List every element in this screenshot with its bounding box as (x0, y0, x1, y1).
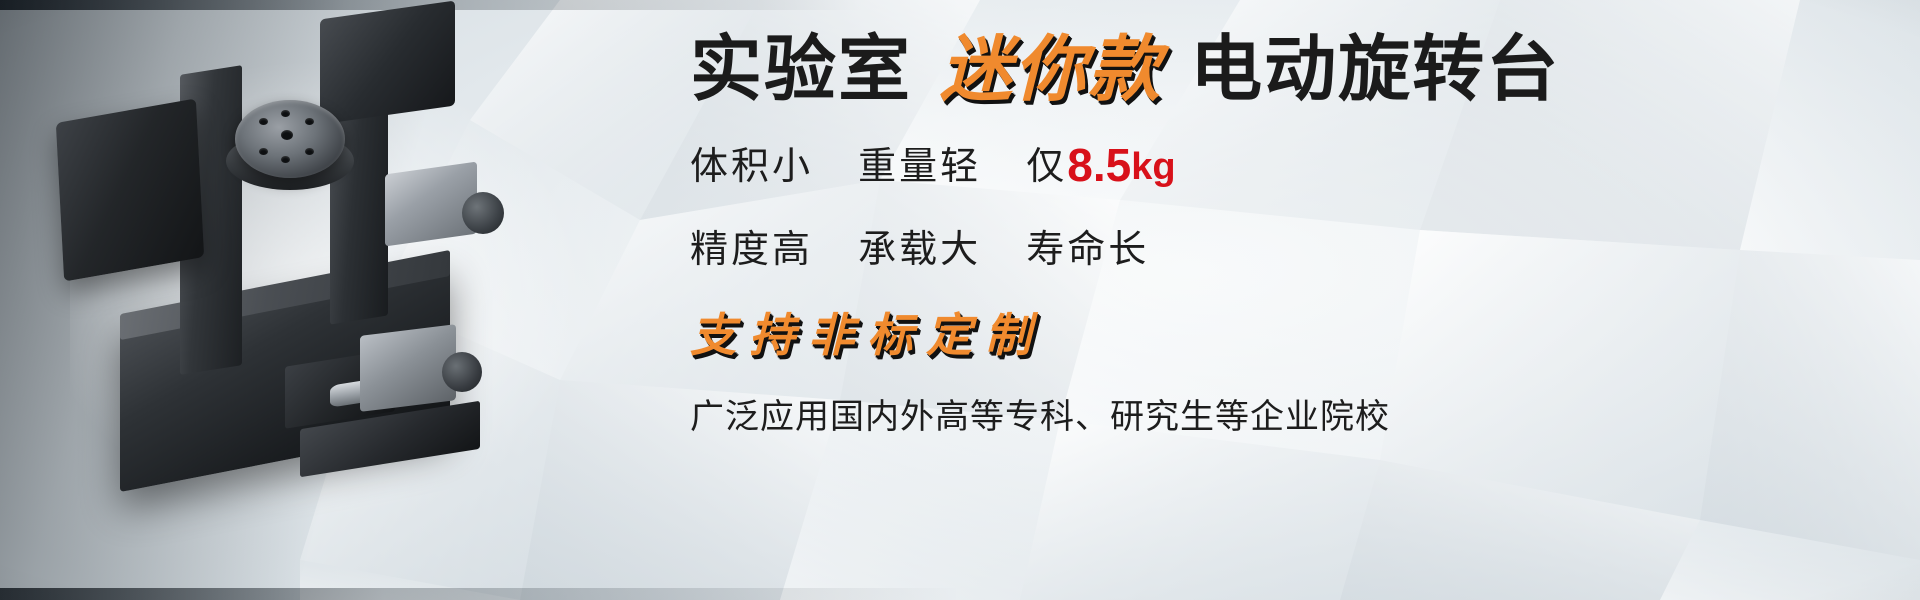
feature-lightweight: 重量轻 (858, 146, 981, 188)
headline-part-2: 电动旋转台 (1190, 30, 1560, 110)
stepper-motor-lower-cap (442, 352, 482, 392)
headline-accent: 迷你款 (934, 30, 1168, 110)
feature-precision: 精度高 (690, 229, 813, 271)
feature-line-1: 体积小 重量轻 仅8.5kg (690, 111, 1870, 192)
feature-compact: 体积小 (690, 146, 813, 188)
motor-top (320, 1, 455, 125)
application-line: 广泛应用国内外高等专科、研究生等企业院校 (690, 365, 1870, 438)
feature-load: 承载大 (858, 229, 981, 271)
motor-left (56, 98, 204, 281)
product-image (30, 0, 670, 600)
feature-line-2: 精度高 承载大 寿命长 (690, 192, 1870, 273)
weight-value: 8.5 (1067, 139, 1131, 191)
stepper-motor-right-cap (462, 192, 504, 234)
promo-banner: 实验室 迷你款 电动旋转台 体积小 重量轻 仅8.5kg 精度高 承载大 寿命长… (0, 0, 1920, 600)
headline-part-1: 实验室 (690, 30, 912, 110)
weight-unit: kg (1131, 146, 1175, 188)
feature-lifespan: 寿命长 (1026, 229, 1149, 271)
banner-copy: 实验室 迷你款 电动旋转台 体积小 重量轻 仅8.5kg 精度高 承载大 寿命长… (690, 16, 1870, 584)
headline: 实验室 迷你款 电动旋转台 (690, 16, 1870, 111)
weight-prefix: 仅 (1026, 146, 1067, 188)
rotary-disc (235, 100, 345, 178)
custom-order-line: 支持非标定制 (690, 273, 1870, 365)
